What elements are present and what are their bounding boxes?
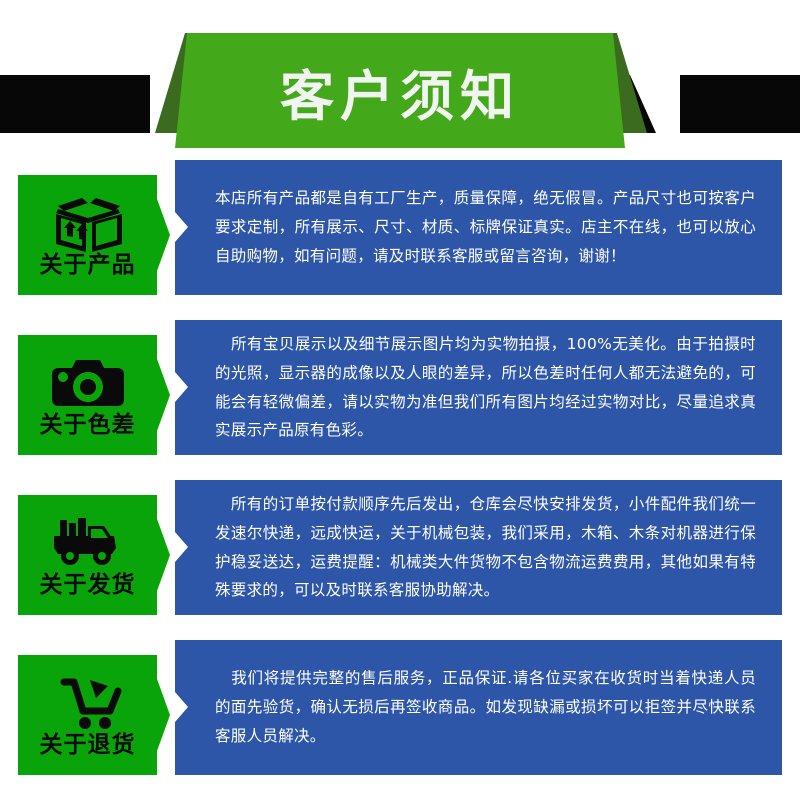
notice-panel: 本店所有产品都是自有工厂生产，质量保障，绝无假冒。产品尺寸也可按客户要求定制，所… [175, 160, 782, 295]
badge-about-shipping[interactable]: 关于发货 [18, 495, 157, 615]
badge-arrow-pointer [157, 175, 170, 295]
notice-row: 关于产品 本店所有产品都是自有工厂生产，质量保障，绝无假冒。产品尺寸也可按客户要… [0, 160, 800, 295]
notice-panel: 所有宝贝展示以及细节展示图片均为实物拍摄，100%无美化。由于拍摄时的光照，显示… [175, 320, 782, 455]
delivery-truck-icon [52, 514, 124, 572]
header-banner: 客户须知 [0, 0, 800, 160]
camera-icon [52, 354, 124, 412]
badge-about-color[interactable]: 关于色差 [18, 335, 157, 455]
package-box-icon [52, 194, 124, 252]
badge-label: 关于色差 [40, 414, 136, 437]
notice-row: 关于发货 所有的订单按付款顺序先后发出，仓库会尽快安排发货，小件配件我们统一发速… [0, 480, 800, 615]
return-cart-icon [52, 674, 124, 732]
notice-row: 关于色差 所有宝贝展示以及细节展示图片均为实物拍摄，100%无美化。由于拍摄时的… [0, 320, 800, 455]
badge-about-return[interactable]: 关于退货 [18, 655, 157, 775]
badge-arrow-pointer [157, 335, 170, 455]
badge-arrow-pointer [157, 495, 170, 615]
notice-row: 关于退货 我们将提供完整的售后服务，正品保证.请各位买家在收货时当着快递人员的面… [0, 640, 800, 775]
badge-arrow-pointer [157, 655, 170, 775]
ribbon-banner: 客户须知 [175, 33, 625, 148]
notice-panel: 所有的订单按付款顺序先后发出，仓库会尽快安排发货，小件配件我们统一发速尔快递，远… [175, 480, 782, 615]
notice-text: 本店所有产品都是自有工厂生产，质量保障，绝无假冒。产品尺寸也可按客户要求定制，所… [175, 184, 782, 270]
notice-text: 所有的订单按付款顺序先后发出，仓库会尽快安排发货，小件配件我们统一发速尔快递，远… [175, 490, 782, 605]
page-title: 客户须知 [280, 58, 520, 124]
notice-text: 我们将提供完整的售后服务，正品保证.请各位买家在收货时当着快递人员的面先验货，确… [175, 664, 782, 750]
notice-panel: 我们将提供完整的售后服务，正品保证.请各位买家在收货时当着快递人员的面先验货，确… [175, 640, 782, 775]
badge-label: 关于产品 [40, 254, 136, 277]
badge-label: 关于发货 [40, 574, 136, 597]
badge-about-product[interactable]: 关于产品 [18, 175, 157, 295]
notice-text: 所有宝贝展示以及细节展示图片均为实物拍摄，100%无美化。由于拍摄时的光照，显示… [175, 330, 782, 445]
badge-label: 关于退货 [40, 734, 136, 757]
notice-section-list: 关于产品 本店所有产品都是自有工厂生产，质量保障，绝无假冒。产品尺寸也可按客户要… [0, 160, 800, 800]
